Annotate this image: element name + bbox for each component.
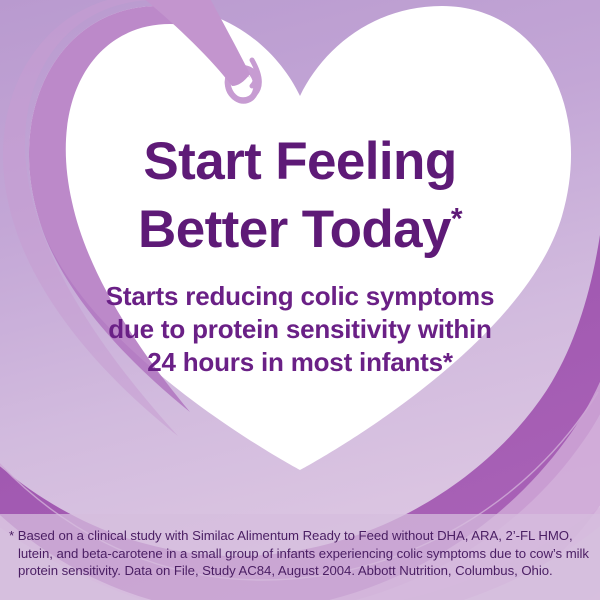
subhead-line-3: 24 hours in most infants* <box>0 346 600 379</box>
subheading: Starts reducing colic symptoms due to pr… <box>0 280 600 379</box>
subhead-line-1: Starts reducing colic symptoms <box>0 280 600 313</box>
footnote-disclaimer: * Based on a clinical study with Similac… <box>9 527 600 580</box>
headline-line-2: Better Today* <box>0 196 600 264</box>
headline-line-1: Start Feeling <box>0 128 600 196</box>
promo-card: Start Feeling Better Today* Starts reduc… <box>0 0 600 600</box>
page-title: Start Feeling Better Today* <box>0 128 600 264</box>
headline-line-2-text: Better Today <box>138 200 451 259</box>
headline-asterisk: * <box>451 202 462 235</box>
subhead-line-2: due to protein sensitivity within <box>0 313 600 346</box>
